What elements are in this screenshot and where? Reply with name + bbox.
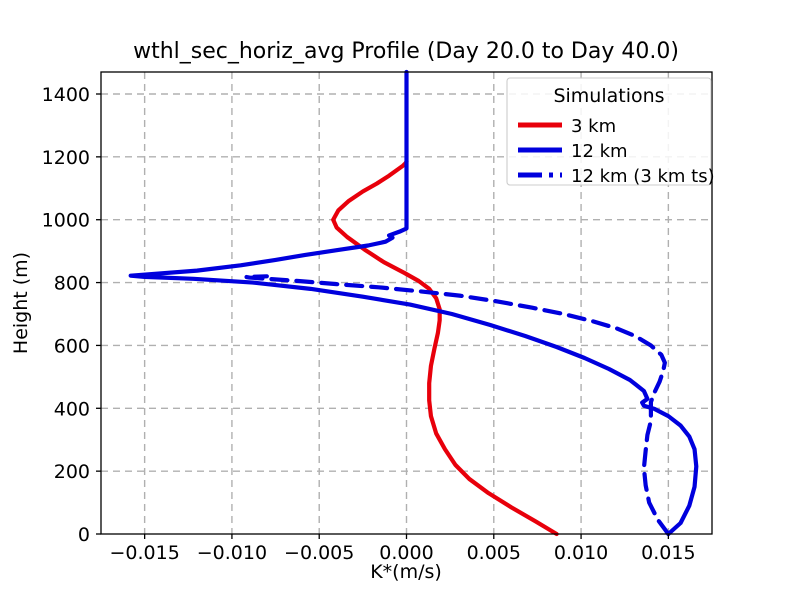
legend-label-1: 12 km	[571, 141, 628, 162]
profile-chart: wthl_sec_horiz_avg Profile (Day 20.0 to …	[0, 0, 800, 600]
legend-label-0: 3 km	[571, 116, 616, 137]
chart-title: wthl_sec_horiz_avg Profile (Day 20.0 to …	[133, 39, 679, 64]
y-axis-label: Height (m)	[10, 252, 32, 354]
legend-label-2: 12 km (3 km ts)	[571, 166, 715, 187]
x-axis-label: K*(m/s)	[370, 561, 442, 583]
y-tick-label: 800	[54, 273, 90, 295]
y-tick-label: 600	[54, 335, 90, 357]
y-tick-label: 1000	[42, 210, 90, 232]
x-tick-label: −0.010	[197, 542, 267, 564]
y-tick-label: 400	[54, 398, 90, 420]
legend-title: Simulations	[553, 85, 664, 107]
x-tick-label: −0.015	[109, 542, 179, 564]
y-tick-label: 1200	[42, 147, 90, 169]
y-tick-label: 0	[78, 524, 90, 546]
x-tick-label: −0.005	[284, 542, 354, 564]
x-tick-label: 0.010	[554, 542, 608, 564]
chart-legend[interactable]: Simulations3 km12 km12 km (3 km ts)	[507, 78, 715, 187]
y-tick-label: 1400	[42, 84, 90, 106]
figure-canvas: wthl_sec_horiz_avg Profile (Day 20.0 to …	[0, 0, 800, 600]
x-tick-label: 0.005	[467, 542, 521, 564]
y-tick-label: 200	[54, 461, 90, 483]
x-tick-label: 0.015	[641, 542, 695, 564]
